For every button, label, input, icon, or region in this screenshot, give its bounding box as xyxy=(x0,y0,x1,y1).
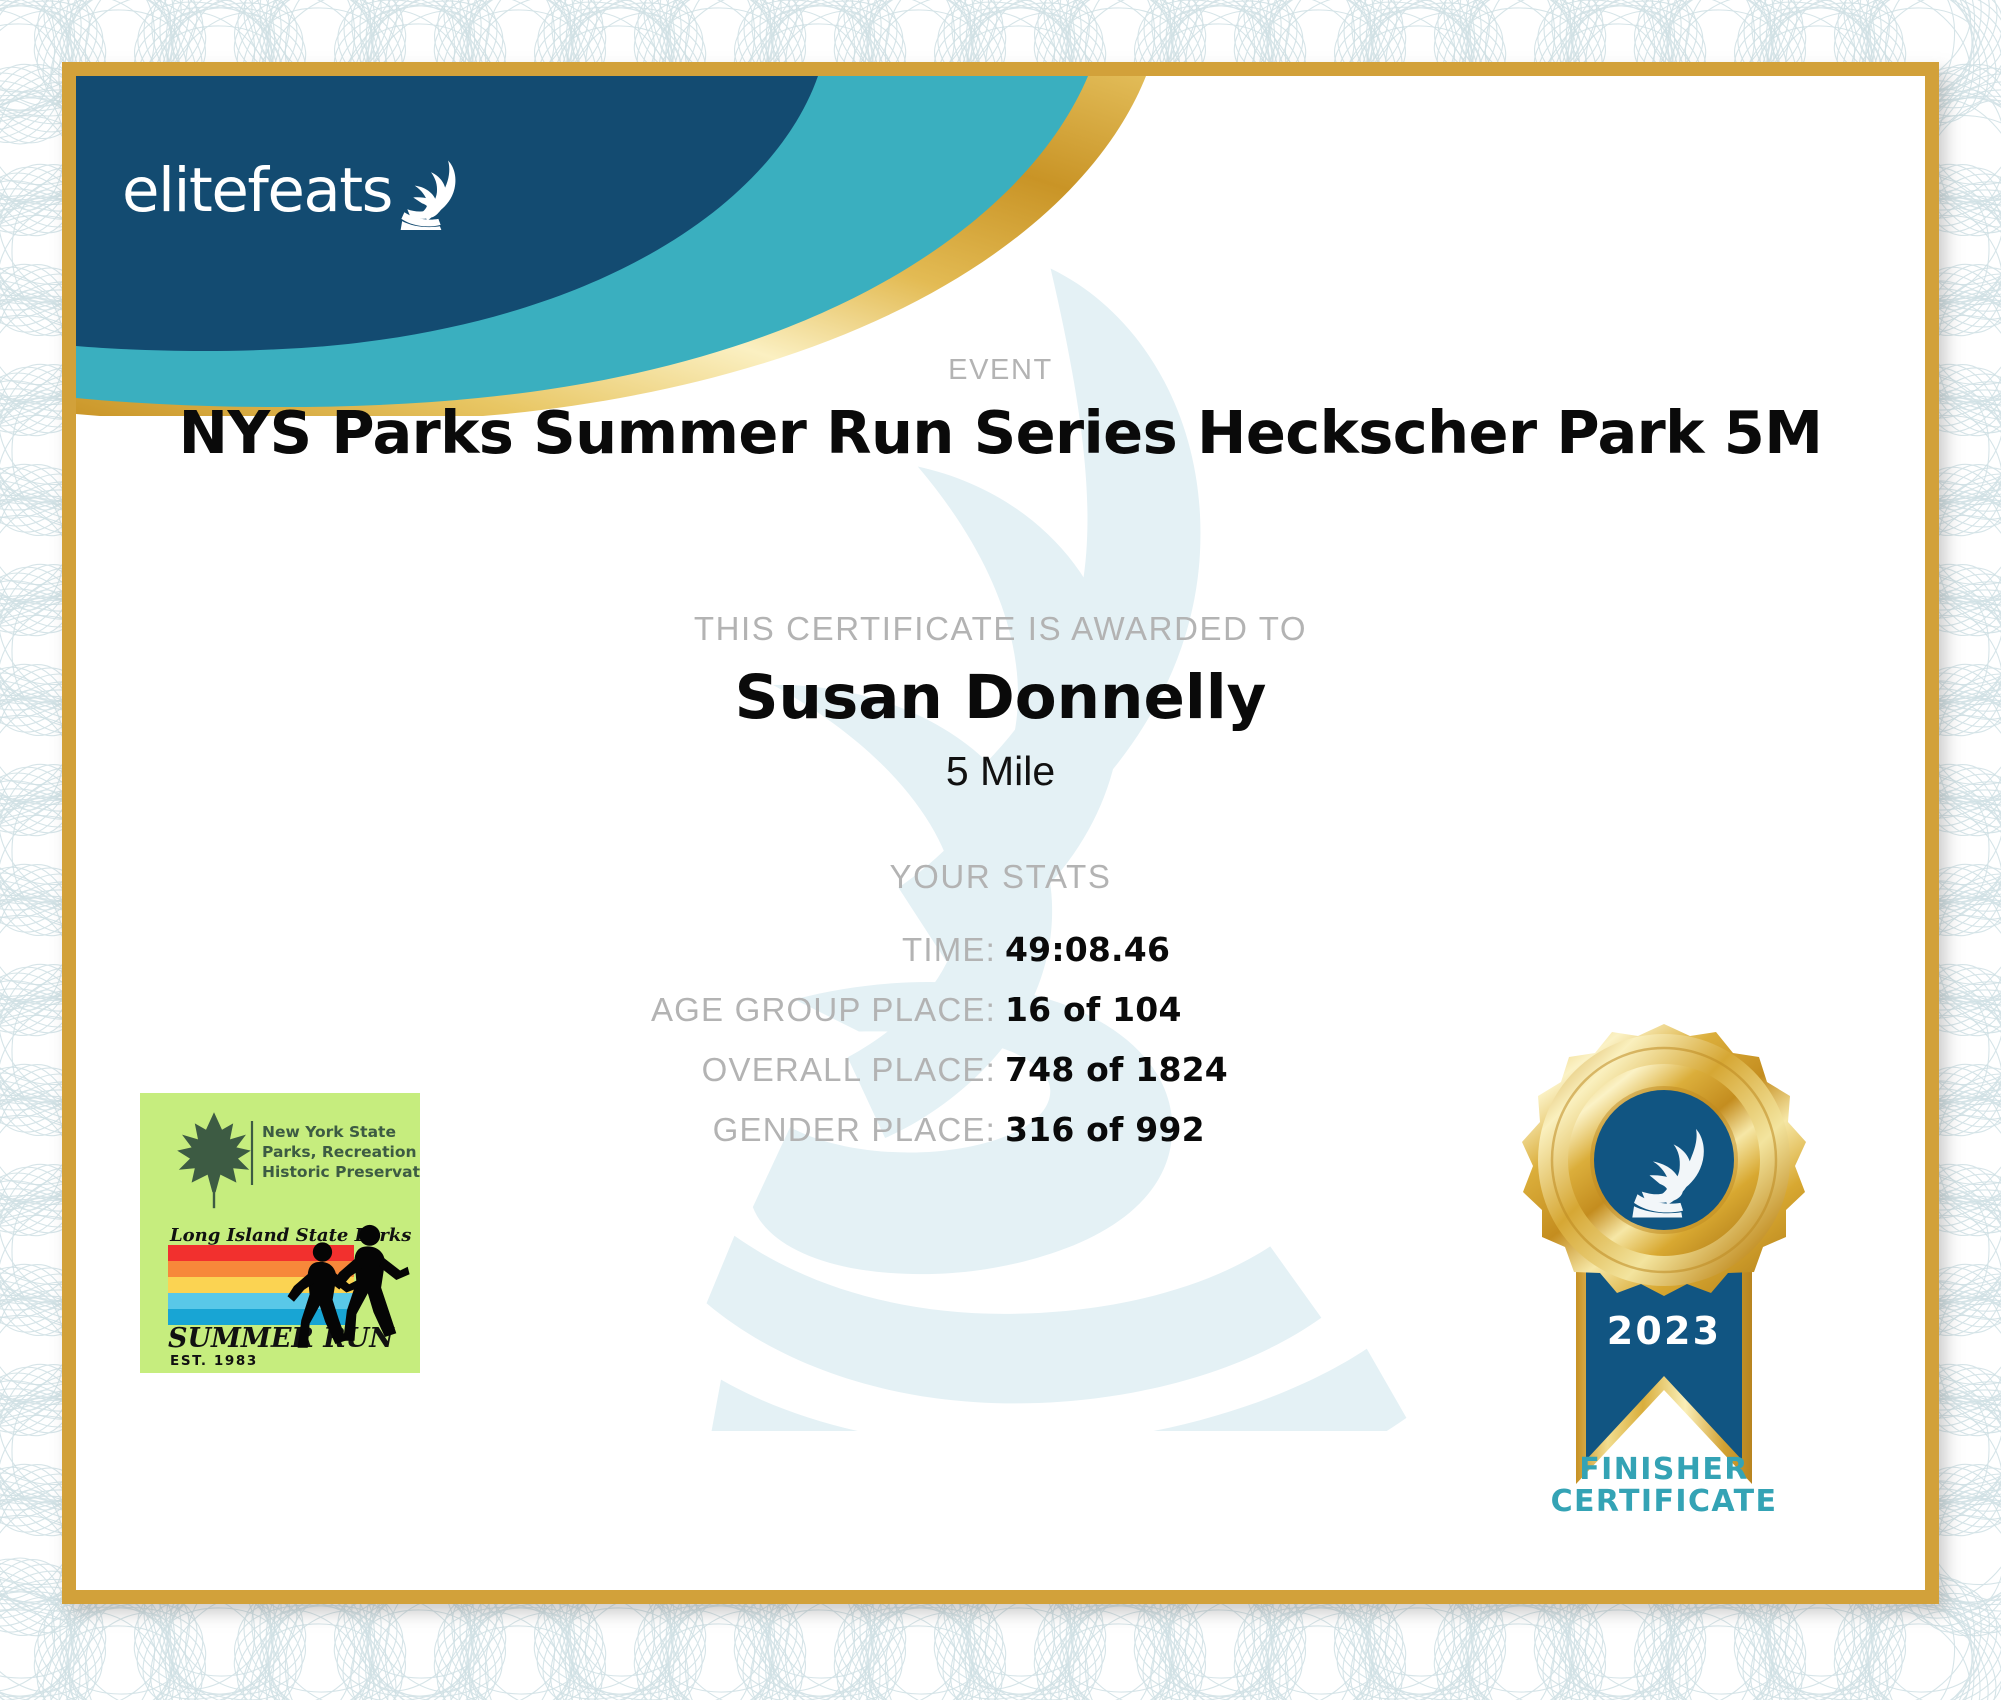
finisher-caption-line-2: CERTIFICATE xyxy=(1464,1486,1864,1518)
stat-label: TIME: xyxy=(506,931,1005,969)
certificate-card: elitefeats EVENT NYS Parks Summer Run Se… xyxy=(62,62,1939,1604)
stat-value: 49:08.46 xyxy=(1005,930,1495,969)
recipient-name: Susan Donnelly xyxy=(76,662,1925,733)
ribbon xyxy=(1576,1264,1752,1484)
stat-value: 748 of 1824 xyxy=(1005,1050,1495,1089)
agency-line-2: Parks, Recreation and xyxy=(262,1143,420,1161)
established-year: EST. 1983 xyxy=(170,1353,258,1369)
elitefeats-logo: elitefeats xyxy=(122,150,468,230)
gold-medal-rosette-icon xyxy=(1522,1024,1806,1296)
your-stats-heading: YOUR STATS xyxy=(76,858,1925,896)
stat-value: 16 of 104 xyxy=(1005,990,1495,1029)
event-title: NYS Parks Summer Run Series Heckscher Pa… xyxy=(76,398,1925,467)
elitefeats-wordmark: elitefeats xyxy=(122,155,392,226)
winged-foot-icon xyxy=(394,156,468,230)
badge-year: 2023 xyxy=(1607,1309,1722,1353)
finisher-certificate-caption: FINISHER CERTIFICATE xyxy=(1464,1454,1864,1519)
agency-line-3: Historic Preservation xyxy=(262,1163,420,1181)
awarded-to-label: THIS CERTIFICATE IS AWARDED TO xyxy=(76,610,1925,648)
stat-label: GENDER PLACE: xyxy=(506,1111,1005,1149)
race-distance: 5 Mile xyxy=(76,748,1925,795)
finisher-caption-line-1: FINISHER xyxy=(1464,1454,1864,1486)
nys-parks-summer-run-logo: New York State Parks, Recreation and His… xyxy=(140,1093,420,1373)
stat-value: 316 of 992 xyxy=(1005,1110,1495,1149)
stat-label: OVERALL PLACE: xyxy=(506,1051,1005,1089)
finisher-medal-badge: 2023 xyxy=(1464,1014,1864,1514)
event-label: EVENT xyxy=(76,354,1925,387)
stat-row-time: TIME: 49:08.46 xyxy=(76,930,1925,969)
agency-line-1: New York State xyxy=(262,1123,396,1141)
stat-label: AGE GROUP PLACE: xyxy=(506,991,1005,1029)
series-name: SUMMER RUN xyxy=(168,1323,395,1354)
